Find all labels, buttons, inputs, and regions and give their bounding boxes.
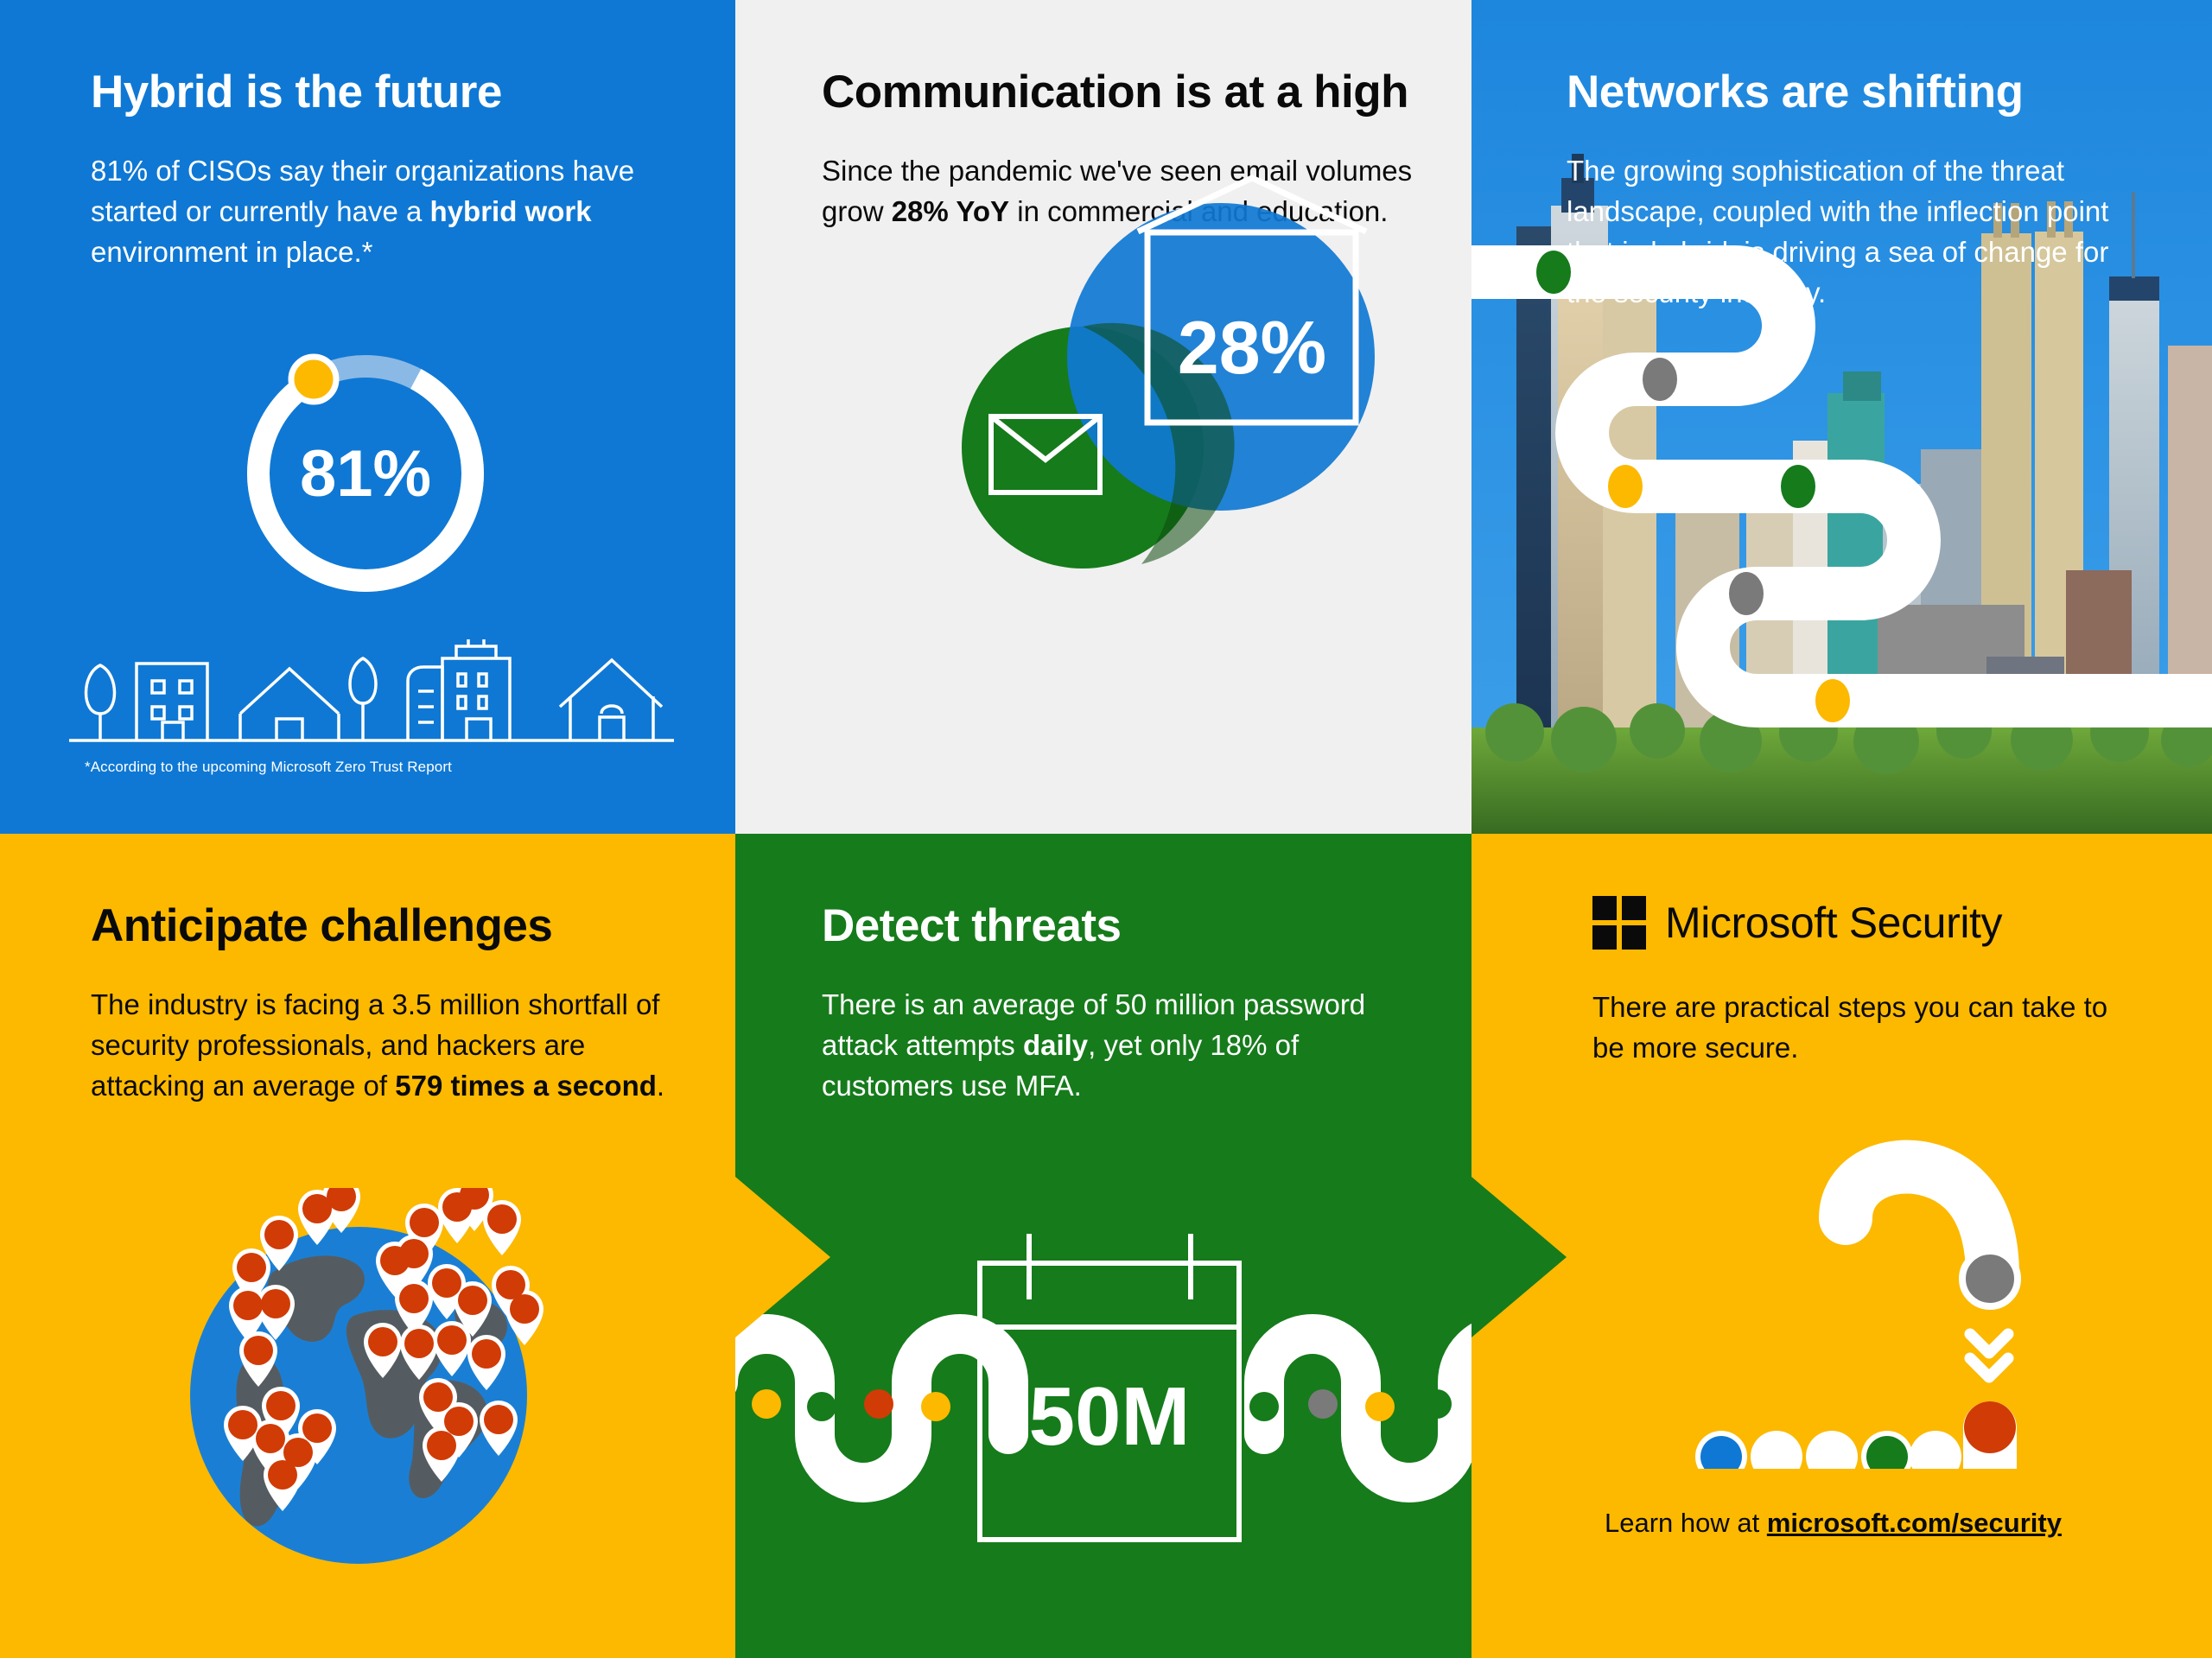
network-dot-yellow bbox=[1815, 679, 1850, 722]
wave-dot-yellow bbox=[1365, 1392, 1395, 1421]
wave-dot-gray bbox=[1308, 1389, 1338, 1419]
wave-dot-green bbox=[807, 1392, 836, 1421]
building-icon bbox=[137, 664, 207, 740]
house-door bbox=[600, 717, 624, 740]
step-dot-white-1 bbox=[1751, 1431, 1802, 1469]
window-icon bbox=[180, 681, 192, 693]
security-steps-graphic bbox=[1668, 1123, 2100, 1469]
hybrid-body: 81% of CISOs say their organizations hav… bbox=[91, 151, 644, 273]
step-dot-white-2 bbox=[1806, 1431, 1858, 1469]
house-roof-icon bbox=[240, 669, 339, 714]
window-icon bbox=[152, 681, 164, 693]
network-dot-gray bbox=[1729, 572, 1764, 615]
logo-square-1 bbox=[1592, 896, 1617, 920]
networks-title: Networks are shifting bbox=[1567, 67, 2137, 117]
hybrid-title: Hybrid is the future bbox=[91, 67, 644, 117]
wave-dot-red bbox=[864, 1389, 893, 1419]
microsoft-security-brand: Microsoft Security bbox=[1665, 898, 2002, 948]
wave-dot-yellow bbox=[752, 1389, 781, 1419]
challenges-body-bold: 579 times a second bbox=[395, 1070, 657, 1102]
networks-body: The growing sophistication of the threat… bbox=[1567, 151, 2137, 313]
step-dot-white-3 bbox=[1910, 1431, 1961, 1469]
globe-with-attack-pins bbox=[168, 1188, 549, 1577]
house-door bbox=[276, 719, 302, 740]
challenges-body-post: . bbox=[657, 1070, 664, 1102]
hybrid-body-bold: hybrid work bbox=[430, 195, 592, 227]
midrise-icon bbox=[408, 667, 442, 740]
wave-dot-yellow bbox=[921, 1392, 950, 1421]
logo-square-2 bbox=[1622, 896, 1646, 920]
learn-how-cta[interactable]: Learn how at microsoft.com/security bbox=[1605, 1508, 2062, 1539]
detect-body-bold: daily bbox=[1023, 1029, 1088, 1061]
double-chevron-down-icon bbox=[1970, 1334, 2008, 1377]
network-path-line bbox=[1471, 272, 2212, 701]
skyline-illustration bbox=[69, 639, 674, 743]
window-icon bbox=[479, 696, 486, 708]
step-dot-red bbox=[1964, 1401, 2016, 1453]
microsoft-security-link[interactable]: microsoft.com/security bbox=[1767, 1508, 2062, 1538]
learn-how-prefix: Learn how at bbox=[1605, 1508, 1767, 1538]
network-dot-gray bbox=[1643, 358, 1677, 401]
communication-stat-value: 28% bbox=[1178, 307, 1326, 390]
calendar-50m-graphic: 50M bbox=[735, 1210, 1471, 1572]
wave-dot-green bbox=[1249, 1392, 1279, 1421]
arrow-detect-to-microsoft-security bbox=[1471, 1177, 1567, 1337]
communication-venn-graphic: 28% bbox=[735, 0, 1471, 834]
window-icon bbox=[458, 696, 466, 708]
house-arch bbox=[601, 706, 622, 714]
infographic-board: Hybrid is the future 81% of CISOs say th… bbox=[0, 0, 2212, 1658]
window-icon bbox=[479, 674, 486, 686]
networks-text-block: Networks are shifting The growing sophis… bbox=[1567, 67, 2137, 314]
tower-cap bbox=[456, 646, 496, 658]
hybrid-stat-value: 81% bbox=[232, 340, 499, 607]
hybrid-body-post: environment in place.* bbox=[91, 236, 373, 268]
challenges-title: Anticipate challenges bbox=[91, 901, 678, 950]
microsoft-logo-icon bbox=[1592, 896, 1646, 950]
arc-end-dot-gray bbox=[1962, 1251, 2018, 1306]
panel-hybrid-is-the-future: Hybrid is the future 81% of CISOs say th… bbox=[0, 0, 735, 834]
challenges-text-block: Anticipate challenges The industry is fa… bbox=[91, 901, 678, 1107]
window-icon bbox=[458, 674, 466, 686]
microsoft-security-text-block: There are practical steps you can take t… bbox=[1592, 988, 2128, 1069]
tree-icon bbox=[350, 658, 376, 740]
detect-title: Detect threats bbox=[822, 901, 1427, 950]
logo-square-3 bbox=[1592, 925, 1617, 950]
house-roof-icon bbox=[560, 660, 662, 707]
window-icon bbox=[180, 707, 192, 719]
panel-communication-is-at-a-high: Communication is at a high Since the pan… bbox=[735, 0, 1471, 834]
wave-dot-green bbox=[1422, 1389, 1452, 1419]
tower-door bbox=[467, 719, 491, 740]
arrow-challenges-to-detect bbox=[735, 1177, 830, 1337]
hybrid-text-block: Hybrid is the future 81% of CISOs say th… bbox=[91, 67, 644, 273]
challenges-body: The industry is facing a 3.5 million sho… bbox=[91, 985, 678, 1107]
panel-networks-are-shifting: Networks are shifting The growing sophis… bbox=[1471, 0, 2212, 834]
network-dot-yellow bbox=[1608, 465, 1643, 508]
network-dot-green bbox=[1781, 465, 1815, 508]
microsoft-security-header: Microsoft Security bbox=[1592, 896, 2002, 950]
detect-text-block: Detect threats There is an average of 50… bbox=[822, 901, 1427, 1107]
detect-stat-value: 50M bbox=[1029, 1370, 1191, 1463]
tower-icon bbox=[442, 658, 510, 740]
hybrid-footnote: *According to the upcoming Microsoft Zer… bbox=[85, 759, 452, 776]
window-icon bbox=[152, 707, 164, 719]
logo-square-4 bbox=[1622, 925, 1646, 950]
hybrid-donut-chart: 81% bbox=[232, 340, 499, 607]
detect-body: There is an average of 50 million passwo… bbox=[822, 985, 1427, 1107]
network-dot-green bbox=[1536, 251, 1571, 294]
tree-icon bbox=[86, 665, 115, 740]
building-door bbox=[162, 722, 183, 740]
microsoft-security-body: There are practical steps you can take t… bbox=[1592, 988, 2128, 1069]
